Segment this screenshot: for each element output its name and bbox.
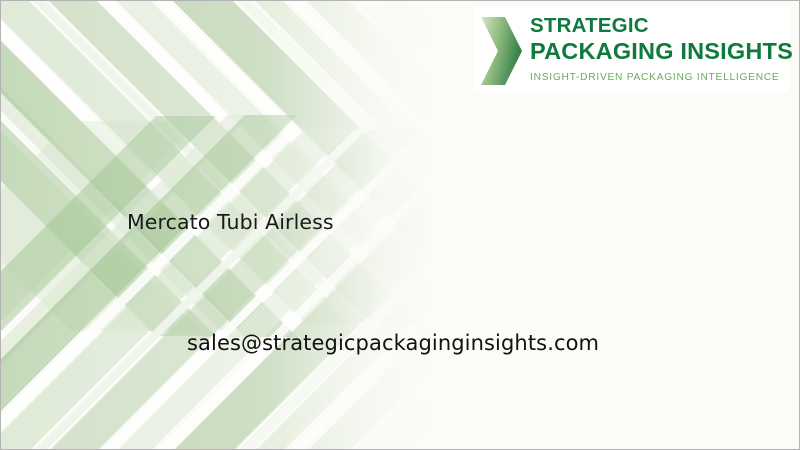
slide-canvas: STRATEGIC PACKAGING INSIGHTS INSIGHT-DRI…	[0, 0, 800, 450]
strategic-packaging-insights-logo: STRATEGIC PACKAGING INSIGHTS INSIGHT-DRI…	[473, 7, 789, 92]
contact-email: sales@strategicpackaginginsights.com	[187, 331, 599, 355]
logo-line-strategic: STRATEGIC	[530, 16, 782, 37]
logo-tagline: INSIGHT-DRIVEN PACKAGING INTELLIGENCE	[530, 72, 782, 83]
chevron-right-icon	[479, 13, 523, 89]
slide-title: Mercato Tubi Airless	[127, 210, 334, 234]
logo-line-packaging-insights: PACKAGING INSIGHTS	[530, 40, 782, 64]
